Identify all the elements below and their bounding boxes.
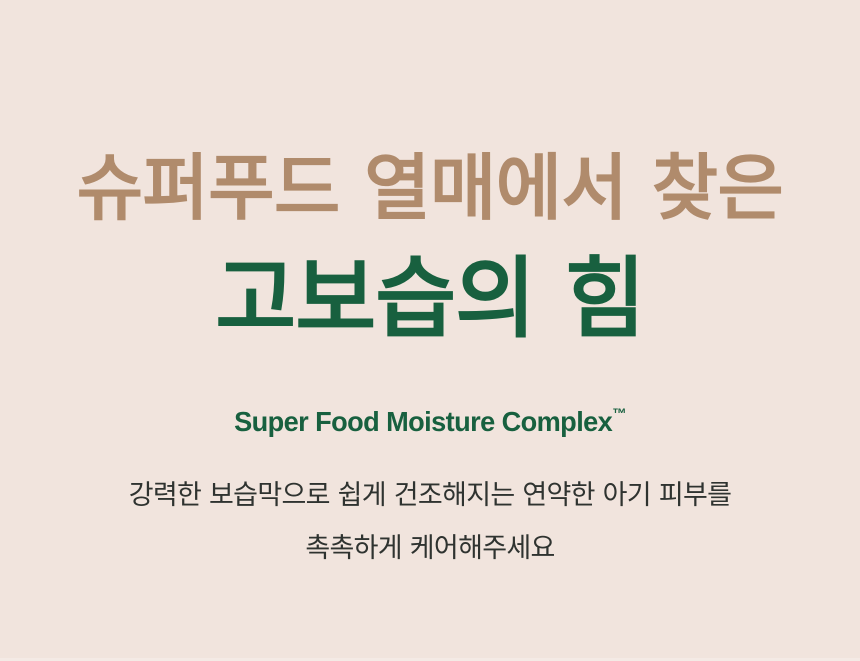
body-copy-line-2: 촉촉하게 케어해주세요 (0, 523, 860, 576)
product-technology-name: Super Food Moisture Complex™ (234, 405, 626, 439)
headline-line-1: 슈퍼푸드 열매에서 찾은 (0, 148, 860, 229)
subtitle-block: Super Food Moisture Complex™ (0, 405, 860, 439)
product-technology-name-text: Super Food Moisture Complex (234, 406, 612, 437)
headline-block: 슈퍼푸드 열매에서 찾은 고보습의 힘 (0, 148, 860, 347)
trademark-symbol: ™ (612, 407, 626, 423)
promo-banner: 슈퍼푸드 열매에서 찾은 고보습의 힘 Super Food Moisture … (0, 0, 860, 661)
body-copy-line-1: 강력한 보습막으로 쉽게 건조해지는 연약한 아기 피부를 (0, 470, 860, 523)
headline-line-2: 고보습의 힘 (0, 251, 860, 348)
body-copy-block: 강력한 보습막으로 쉽게 건조해지는 연약한 아기 피부를 촉촉하게 케어해주세… (0, 470, 860, 575)
